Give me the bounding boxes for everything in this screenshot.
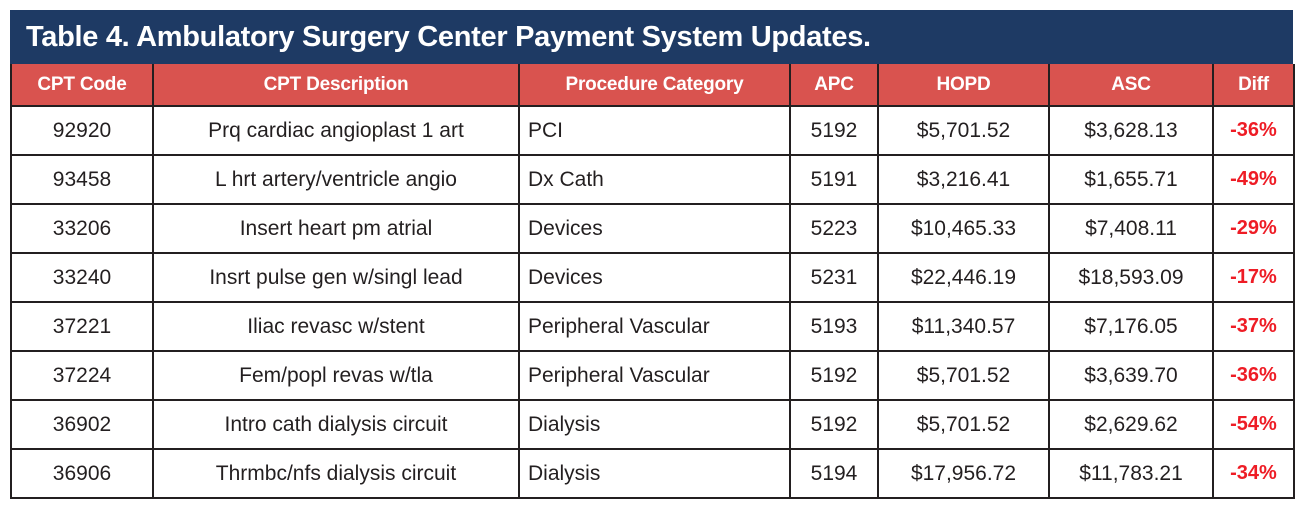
table-row[interactable]: 36902Intro cath dialysis circuitDialysis…: [11, 400, 1294, 449]
cell-hopd: $10,465.33: [878, 204, 1049, 253]
cell-apc: 5194: [790, 449, 878, 498]
cell-asc: $1,655.71: [1049, 155, 1213, 204]
data-table: CPT Code CPT Description Procedure Categ…: [10, 64, 1295, 499]
table-title: Table 4. Ambulatory Surgery Center Payme…: [26, 21, 871, 54]
cell-apc: 5231: [790, 253, 878, 302]
cell-apc: 5192: [790, 106, 878, 155]
table-row[interactable]: 33206Insert heart pm atrialDevices5223$1…: [11, 204, 1294, 253]
column-header-diff[interactable]: Diff: [1213, 64, 1294, 106]
cell-apc: 5193: [790, 302, 878, 351]
cell-cpt-description: Insrt pulse gen w/singl lead: [153, 253, 519, 302]
cell-diff: -34%: [1213, 449, 1294, 498]
table-row[interactable]: 93458L hrt artery/ventricle angioDx Cath…: [11, 155, 1294, 204]
cell-procedure-category: Dialysis: [519, 400, 790, 449]
cell-asc: $7,176.05: [1049, 302, 1213, 351]
cell-procedure-category: Peripheral Vascular: [519, 351, 790, 400]
table-row[interactable]: 37224Fem/popl revas w/tlaPeripheral Vasc…: [11, 351, 1294, 400]
table-row[interactable]: 36906Thrmbc/nfs dialysis circuitDialysis…: [11, 449, 1294, 498]
cell-procedure-category: Dx Cath: [519, 155, 790, 204]
column-header-cpt-code[interactable]: CPT Code: [11, 64, 153, 106]
cell-diff: -29%: [1213, 204, 1294, 253]
cell-asc: $3,628.13: [1049, 106, 1213, 155]
cell-hopd: $5,701.52: [878, 400, 1049, 449]
cell-apc: 5223: [790, 204, 878, 253]
cell-cpt-description: L hrt artery/ventricle angio: [153, 155, 519, 204]
cell-diff: -36%: [1213, 106, 1294, 155]
cell-cpt-description: Prq cardiac angioplast 1 art: [153, 106, 519, 155]
cell-cpt-code: 36902: [11, 400, 153, 449]
cell-hopd: $5,701.52: [878, 351, 1049, 400]
column-header-cpt-description[interactable]: CPT Description: [153, 64, 519, 106]
cell-cpt-code: 33206: [11, 204, 153, 253]
cell-procedure-category: PCI: [519, 106, 790, 155]
cell-asc: $18,593.09: [1049, 253, 1213, 302]
cell-cpt-code: 36906: [11, 449, 153, 498]
cell-asc: $3,639.70: [1049, 351, 1213, 400]
payment-system-updates-table: Table 4. Ambulatory Surgery Center Payme…: [10, 10, 1293, 502]
cell-cpt-code: 33240: [11, 253, 153, 302]
header-row: CPT Code CPT Description Procedure Categ…: [11, 64, 1294, 106]
cell-hopd: $5,701.52: [878, 106, 1049, 155]
cell-hopd: $11,340.57: [878, 302, 1049, 351]
cell-cpt-code: 92920: [11, 106, 153, 155]
cell-procedure-category: Devices: [519, 204, 790, 253]
table-body: 92920Prq cardiac angioplast 1 artPCI5192…: [11, 106, 1294, 498]
cell-cpt-code: 37224: [11, 351, 153, 400]
cell-cpt-description: Iliac revasc w/stent: [153, 302, 519, 351]
cell-cpt-code: 93458: [11, 155, 153, 204]
cell-apc: 5192: [790, 400, 878, 449]
cell-hopd: $3,216.41: [878, 155, 1049, 204]
cell-cpt-description: Thrmbc/nfs dialysis circuit: [153, 449, 519, 498]
cell-apc: 5192: [790, 351, 878, 400]
cell-cpt-description: Insert heart pm atrial: [153, 204, 519, 253]
cell-procedure-category: Devices: [519, 253, 790, 302]
cell-diff: -54%: [1213, 400, 1294, 449]
cell-cpt-description: Fem/popl revas w/tla: [153, 351, 519, 400]
cell-hopd: $22,446.19: [878, 253, 1049, 302]
table-row[interactable]: 37221Iliac revasc w/stentPeripheral Vasc…: [11, 302, 1294, 351]
cell-hopd: $17,956.72: [878, 449, 1049, 498]
cell-diff: -36%: [1213, 351, 1294, 400]
cell-procedure-category: Dialysis: [519, 449, 790, 498]
column-header-asc[interactable]: ASC: [1049, 64, 1213, 106]
table-header: CPT Code CPT Description Procedure Categ…: [11, 64, 1294, 106]
cell-cpt-code: 37221: [11, 302, 153, 351]
cell-diff: -37%: [1213, 302, 1294, 351]
column-header-apc[interactable]: APC: [790, 64, 878, 106]
cell-asc: $11,783.21: [1049, 449, 1213, 498]
cell-cpt-description: Intro cath dialysis circuit: [153, 400, 519, 449]
column-header-procedure-category[interactable]: Procedure Category: [519, 64, 790, 106]
cell-diff: -17%: [1213, 253, 1294, 302]
cell-asc: $2,629.62: [1049, 400, 1213, 449]
table-row[interactable]: 33240Insrt pulse gen w/singl leadDevices…: [11, 253, 1294, 302]
table-title-bar: Table 4. Ambulatory Surgery Center Payme…: [10, 10, 1293, 64]
cell-apc: 5191: [790, 155, 878, 204]
table-row[interactable]: 92920Prq cardiac angioplast 1 artPCI5192…: [11, 106, 1294, 155]
cell-procedure-category: Peripheral Vascular: [519, 302, 790, 351]
cell-asc: $7,408.11: [1049, 204, 1213, 253]
column-header-hopd[interactable]: HOPD: [878, 64, 1049, 106]
cell-diff: -49%: [1213, 155, 1294, 204]
